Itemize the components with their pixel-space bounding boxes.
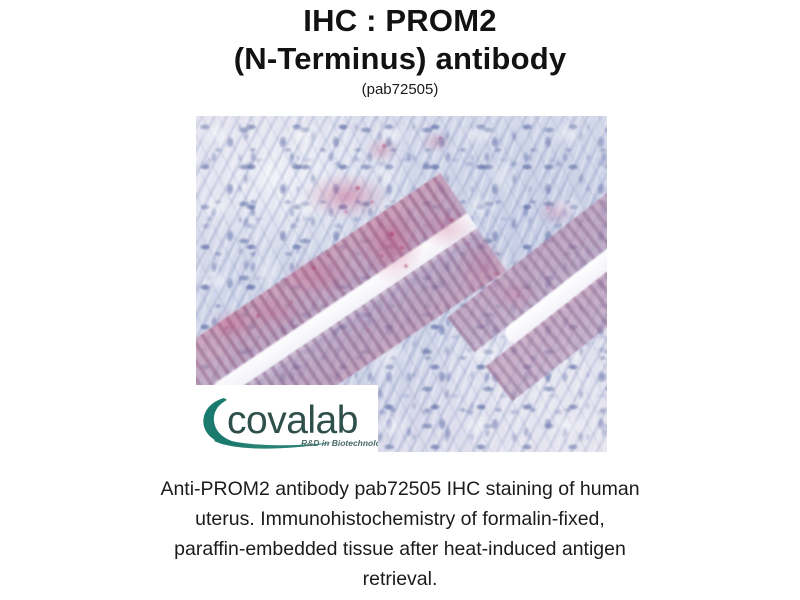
- covalab-logo-svg: covalab R&D in Biotechnology: [196, 385, 378, 452]
- logo-tagline: R&D in Biotechnology: [301, 438, 378, 448]
- caption-line-2: uterus. Immunohistochemistry of formalin…: [70, 504, 730, 534]
- catalog-code: (pab72505): [0, 80, 800, 100]
- figure-caption: Anti-PROM2 antibody pab72505 IHC stainin…: [70, 474, 730, 594]
- caption-line-4: retrieval.: [70, 564, 730, 594]
- page-title-line-1: IHC : PROM2: [0, 2, 800, 40]
- ihc-micrograph: covalab R&D in Biotechnology: [196, 116, 607, 452]
- page-title-line-2: (N-Terminus) antibody: [0, 40, 800, 78]
- caption-line-1: Anti-PROM2 antibody pab72505 IHC stainin…: [70, 474, 730, 504]
- caption-line-3: paraffin-embedded tissue after heat-indu…: [70, 534, 730, 564]
- title-block: IHC : PROM2 (N-Terminus) antibody (pab72…: [0, 2, 800, 100]
- covalab-logo: covalab R&D in Biotechnology: [196, 385, 378, 452]
- logo-wordmark: covalab: [227, 399, 358, 442]
